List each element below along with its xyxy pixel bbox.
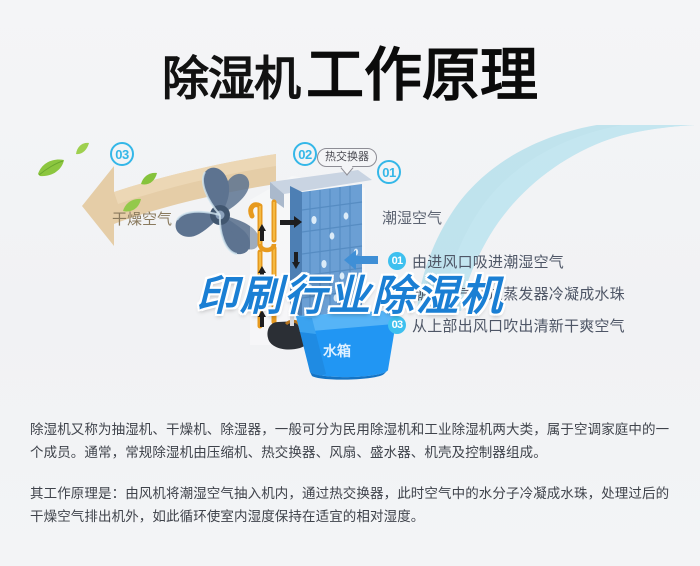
leaf-icon bbox=[36, 158, 66, 178]
page-title-part2: 工作原理 bbox=[306, 43, 538, 108]
leaf-icon bbox=[140, 172, 158, 186]
body-paragraph-1: 除湿机又称为抽湿机、干燥机、除湿器，一般可分为民用除湿机和工业除湿机两大类，属于… bbox=[30, 418, 670, 464]
body-paragraph-2-text: 其工作原理是：由风机将潮湿空气抽入机内，通过热交换器，此时空气中的水分子冷凝成水… bbox=[30, 482, 670, 528]
diagram-ring-03: 03 bbox=[110, 142, 134, 166]
diagram-ring-01: 01 bbox=[377, 160, 401, 184]
diagram-ring-02: 02 bbox=[293, 142, 317, 166]
page-title-part1: 除湿机 bbox=[162, 52, 300, 105]
body-paragraph-1-text: 除湿机又称为抽湿机、干燥机、除湿器，一般可分为民用除湿机和工业除湿机两大类，属于… bbox=[30, 418, 670, 464]
leaf-icon bbox=[74, 142, 90, 156]
body-paragraph-2: 其工作原理是：由风机将潮湿空气抽入机内，通过热交换器，此时空气中的水分子冷凝成水… bbox=[30, 482, 670, 528]
label-water-tank: 水箱 bbox=[323, 341, 351, 361]
label-humid-air: 潮湿空气 bbox=[382, 207, 442, 228]
callout-heat-exchanger: 热交换器 bbox=[317, 148, 377, 167]
page-title: 除湿机工作原理 bbox=[0, 28, 700, 112]
infographic-page: 除湿机工作原理 bbox=[0, 0, 700, 566]
watermark-text: 印刷行业除湿机 bbox=[0, 262, 700, 323]
label-dry-air: 干燥空气 bbox=[112, 208, 172, 229]
